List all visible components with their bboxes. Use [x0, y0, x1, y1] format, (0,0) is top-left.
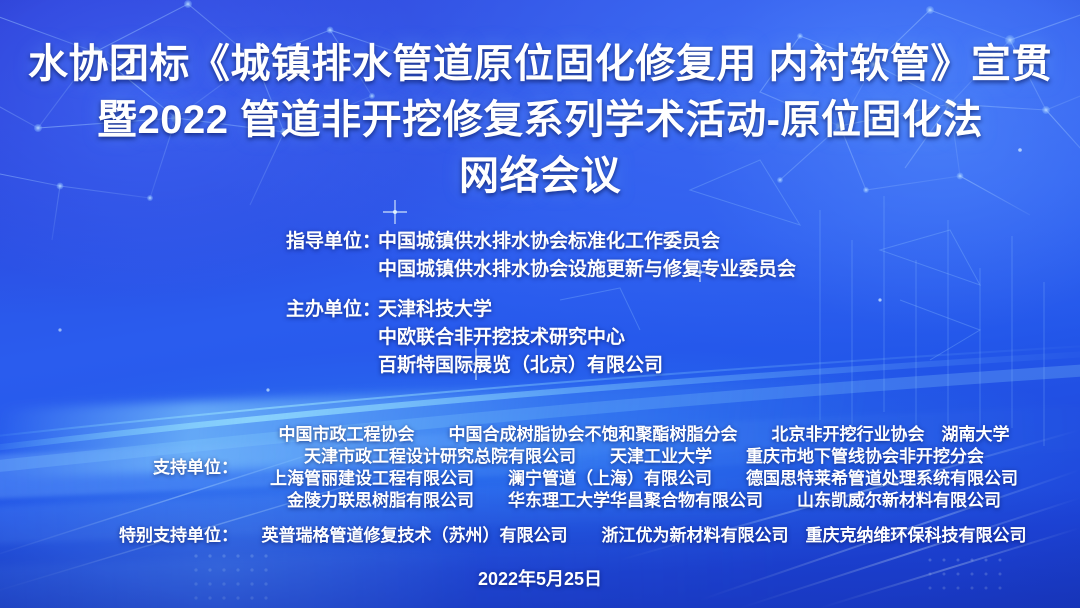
special-support-label: 特别支持单位： — [0, 524, 238, 548]
support-units-block: 支持单位： 中国市政工程协会 中国合成树脂协会不饱和聚酯树脂分会 北京非开挖行业… — [0, 424, 1080, 512]
title-line-1: 水协团标《城镇排水管道原位固化修复用 内衬软管》宣贯 — [0, 36, 1080, 92]
organizations-block: 指导单位 ： 中国城镇供水排水协会标准化工作委员会 中国城镇供水排水协会设施更新… — [0, 228, 1080, 380]
host-unit-2: 中欧联合非开挖技术研究中心 — [378, 324, 840, 352]
special-support-row: 特别支持单位： 英普瑞格管道修复技术（苏州）有限公司 浙江优为新材料有限公司 重… — [0, 524, 1080, 548]
event-date-row: 2022年5月25日 — [0, 566, 1080, 592]
host-units-label: 主办单位 — [240, 296, 362, 324]
support-line-2: 天津市政工程设计研究总院有限公司 天津工业大学 重庆市地下管线协会非开挖分会 — [238, 446, 1080, 468]
support-units-row: 支持单位： 中国市政工程协会 中国合成树脂协会不饱和聚酯树脂分会 北京非开挖行业… — [0, 424, 1080, 512]
event-date: 2022年5月25日 — [0, 566, 1080, 592]
special-support-value: 英普瑞格管道修复技术（苏州）有限公司 浙江优为新材料有限公司 重庆克纳维环保科技… — [238, 524, 1080, 548]
support-units-list: 中国市政工程协会 中国合成树脂协会不饱和聚酯树脂分会 北京非开挖行业协会 湖南大… — [238, 424, 1080, 512]
host-units-row: 主办单位 ： 天津科技大学 中欧联合非开挖技术研究中心 百斯特国际展览（北京）有… — [0, 296, 1080, 380]
guidance-units-colon: ： — [362, 228, 378, 256]
guidance-unit-1: 中国城镇供水排水协会标准化工作委员会 — [378, 228, 840, 256]
support-line-3: 上海管丽建设工程有限公司 澜宁管道（上海）有限公司 德国思特莱希管道处理系统有限… — [238, 468, 1080, 490]
support-line-4: 金陵力联思树脂有限公司 华东理工大学华昌聚合物有限公司 山东凯威尔新材料有限公司 — [238, 490, 1080, 512]
conference-poster: 水协团标《城镇排水管道原位固化修复用 内衬软管》宣贯 暨2022 管道非开挖修复… — [0, 0, 1080, 608]
support-line-1: 中国市政工程协会 中国合成树脂协会不饱和聚酯树脂分会 北京非开挖行业协会 湖南大… — [238, 424, 1080, 446]
title-line-2: 暨2022 管道非开挖修复系列学术活动-原位固化法 — [0, 92, 1080, 148]
guidance-units-label: 指导单位 — [240, 228, 362, 256]
guidance-units-row: 指导单位 ： 中国城镇供水排水协会标准化工作委员会 中国城镇供水排水协会设施更新… — [0, 228, 1080, 284]
title-line-3: 网络会议 — [0, 148, 1080, 204]
host-units-colon: ： — [362, 296, 378, 324]
guidance-units-values: 中国城镇供水排水协会标准化工作委员会 中国城镇供水排水协会设施更新与修复专业委员… — [378, 228, 840, 284]
host-unit-1: 天津科技大学 — [378, 296, 840, 324]
guidance-unit-2: 中国城镇供水排水协会设施更新与修复专业委员会 — [378, 256, 840, 284]
organizations-spacer — [0, 284, 1080, 296]
host-units-values: 天津科技大学 中欧联合非开挖技术研究中心 百斯特国际展览（北京）有限公司 — [378, 296, 840, 380]
poster-content: 水协团标《城镇排水管道原位固化修复用 内衬软管》宣贯 暨2022 管道非开挖修复… — [0, 0, 1080, 608]
support-units-label: 支持单位： — [0, 457, 238, 479]
poster-title: 水协团标《城镇排水管道原位固化修复用 内衬软管》宣贯 暨2022 管道非开挖修复… — [0, 36, 1080, 204]
host-unit-3: 百斯特国际展览（北京）有限公司 — [378, 352, 840, 380]
